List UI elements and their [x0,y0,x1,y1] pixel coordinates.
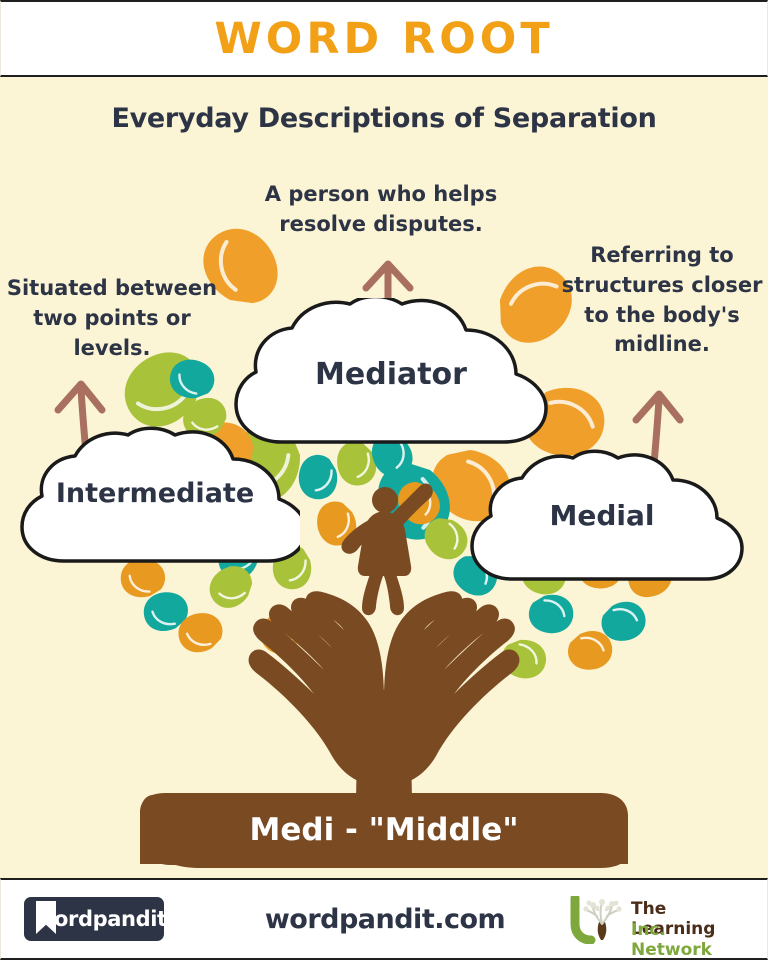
tln-label-line2: Inc. Network [631,920,747,960]
jumping-child-figure [342,484,433,616]
cloud-medial[interactable]: Medial [460,445,744,593]
tln-tree-icon [567,896,625,944]
cloud-intermediate[interactable]: Intermediate [10,423,300,575]
footer-bar: ordpandit wordpandit.com [0,878,768,960]
cloud-shape [460,445,744,593]
description-medial: Referring to structures closer to the bo… [556,241,768,360]
infographic-poster: Mediator Intermediate Medial Medi - "Mid… [0,0,768,960]
cloud-shape [10,423,300,575]
header-bar: WORD ROOT [0,0,768,77]
the-learning-inc-network-logo[interactable]: The Learning Inc. Network [567,896,747,944]
page-title: WORD ROOT [214,14,553,64]
subtitle: Everyday Descriptions of Separation [0,103,768,134]
description-mediator: A person who helps resolve disputes. [252,180,510,240]
tree-hands-trunk [249,591,520,812]
root-banner-label: Medi - "Middle" [0,812,768,848]
description-intermediate: Situated between two points or levels. [2,274,222,363]
